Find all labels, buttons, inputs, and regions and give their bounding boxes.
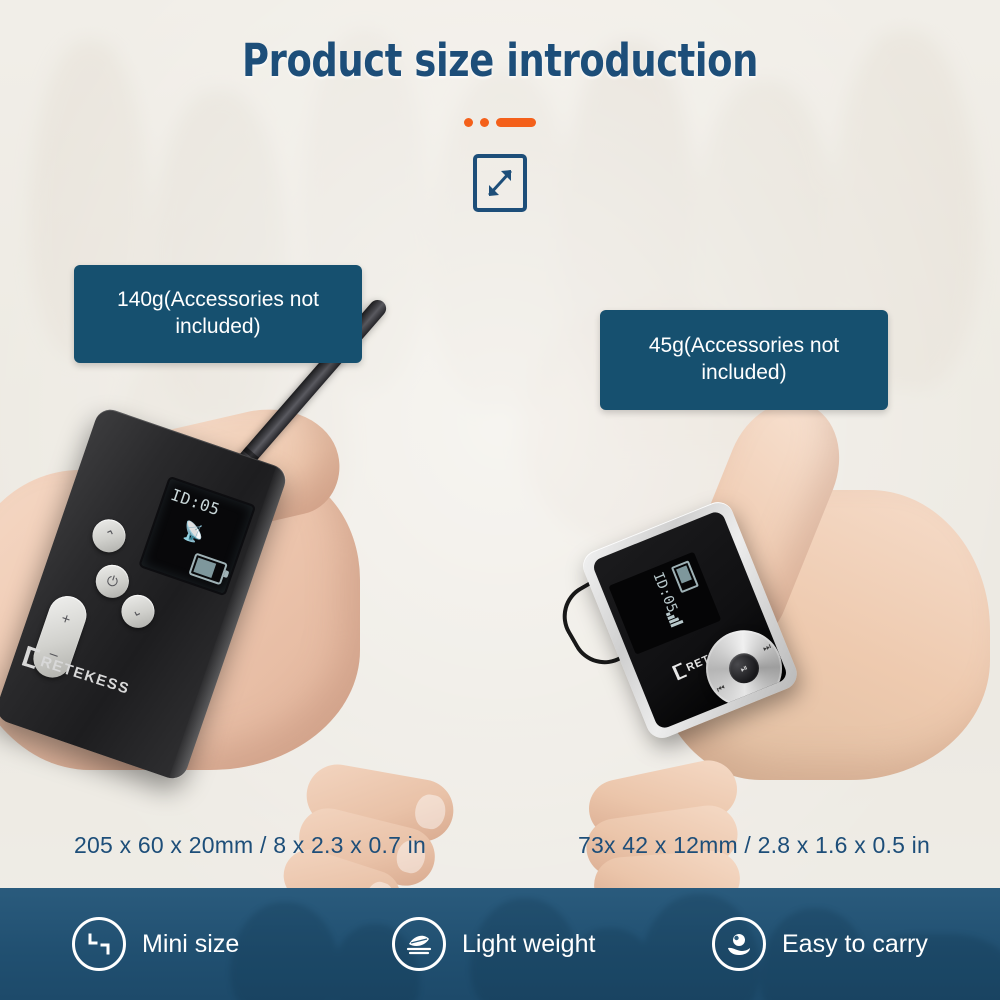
feature-label: Mini size — [142, 930, 239, 959]
divider-dot — [480, 118, 489, 127]
power-button[interactable]: ⏻ — [91, 560, 133, 602]
title-divider — [0, 118, 1000, 127]
mini-size-icon — [72, 917, 126, 971]
battery-icon — [671, 560, 699, 593]
battery-icon — [188, 552, 228, 585]
feature-mini-size: Mini size — [72, 917, 392, 971]
transmitter-weight-callout: 140g(Accessories not included) — [74, 265, 362, 363]
feather-light-weight-icon — [392, 917, 446, 971]
feature-label: Light weight — [462, 930, 595, 959]
channel-down-button[interactable]: ⌄ — [117, 590, 159, 632]
resize-arrow-icon — [473, 154, 527, 212]
receiver-dimensions-caption: 73x 42 x 12mm / 2.8 x 1.6 x 0.5 in — [578, 832, 930, 859]
feature-label: Easy to carry — [782, 930, 928, 959]
transmitter-screen-id: ID:05 — [168, 485, 222, 519]
page-title: Product size introduction — [90, 34, 910, 87]
retekess-logo-icon — [22, 646, 41, 669]
receiver-weight-callout: 45g(Accessories not included) — [600, 310, 888, 410]
feature-footer-bar: Mini size Light weight — [0, 888, 1000, 1000]
signal-antenna-icon: 📡 — [179, 520, 207, 547]
channel-up-button[interactable]: ⌃ — [88, 515, 130, 557]
feature-easy-to-carry: Easy to carry — [712, 917, 928, 971]
transmitter-brand-label: RETEKESS — [38, 653, 132, 698]
transmitter-dimensions-caption: 205 x 60 x 20mm / 8 x 2.3 x 0.7 in — [74, 832, 426, 859]
volume-up-label: + — [59, 610, 73, 629]
footer-feature-list: Mini size Light weight — [0, 888, 1000, 1000]
feature-light-weight: Light weight — [392, 917, 712, 971]
divider-dot — [464, 118, 473, 127]
product-size-infographic: Product size introduction ID:05 📡 ⌃ — [0, 0, 1000, 1000]
hand-carry-icon — [712, 917, 766, 971]
divider-bar — [496, 118, 536, 127]
